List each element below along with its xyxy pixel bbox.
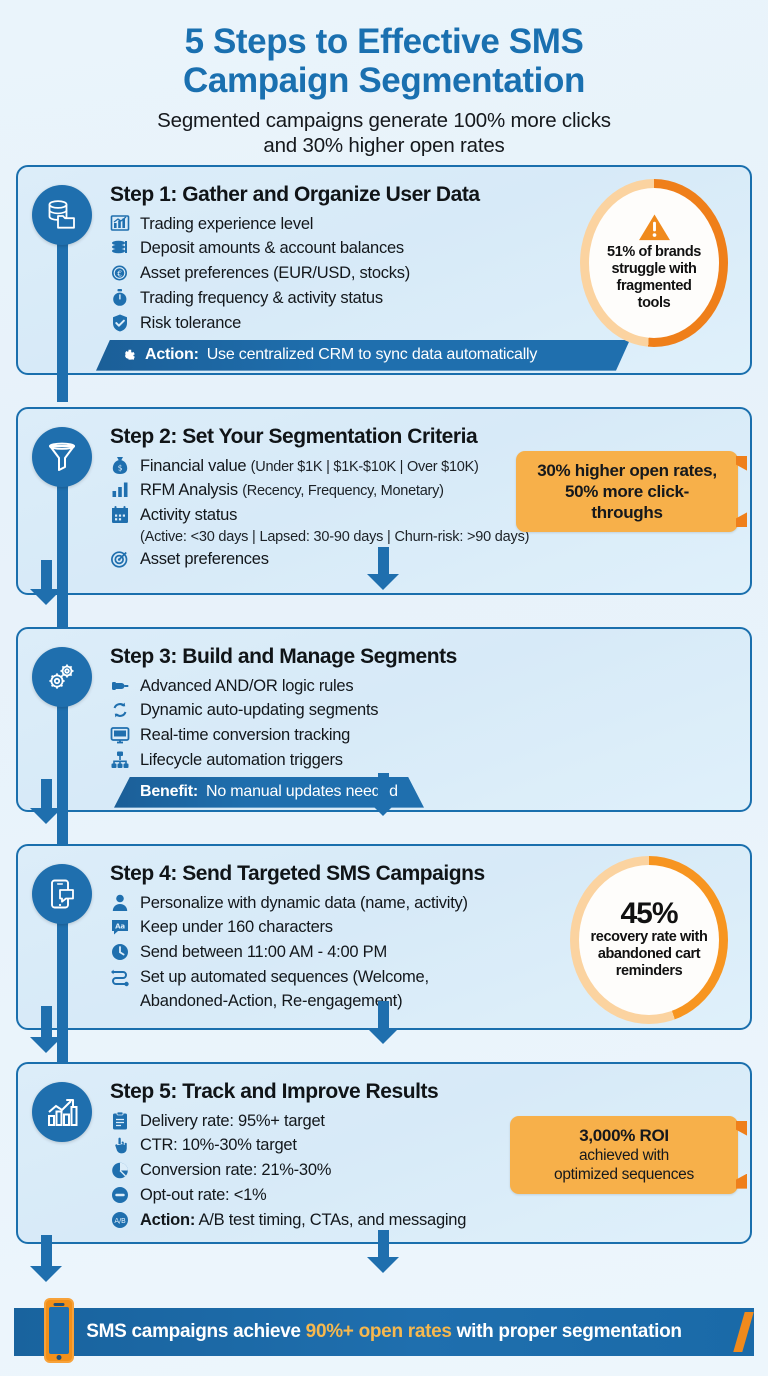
click-hand-icon <box>110 1135 131 1157</box>
step-2-icon-badge <box>32 427 92 487</box>
callout-line-1: 30% higher open rates, <box>530 460 724 481</box>
pie-chart-icon <box>110 1160 131 1182</box>
bullet-text: Real-time conversion tracking <box>140 723 740 748</box>
step-1-icon-badge <box>32 185 92 245</box>
banner-post: with proper segmentation <box>452 1321 682 1342</box>
step-5-icon-badge <box>32 1082 92 1142</box>
coins-stack-icon <box>110 238 131 260</box>
bullet-text: Dynamic auto-updating segments <box>140 698 740 723</box>
connector-arrow-mid-1 <box>378 547 389 575</box>
ab-test-icon: A/B <box>110 1210 131 1232</box>
monitor-icon <box>110 725 131 747</box>
svg-text:$: $ <box>118 463 123 472</box>
banner-highlight: 90%+ open rates <box>306 1321 452 1342</box>
callout-line-3: optimized sequences <box>524 1165 724 1184</box>
step-4-stat-donut: 45% recovery rate with abandoned cart re… <box>570 856 728 1024</box>
step-1-stat-donut: 51% of brands struggle with fragmented t… <box>580 179 728 347</box>
donut-line-1: recovery rate with <box>591 929 708 946</box>
title-line-1: 5 Steps to Effective SMS <box>30 22 738 61</box>
bullet-text: Advanced AND/OR logic rules <box>140 674 740 699</box>
list-item: Advanced AND/OR logic rules <box>110 674 740 699</box>
donut-percent: 45% <box>620 899 677 929</box>
step-1-badge-column <box>18 177 110 336</box>
mobile-message-icon <box>46 878 78 910</box>
donut-line-3: reminders <box>616 963 683 980</box>
step-2-callout: 30% higher open rates, 50% more click-th… <box>516 451 738 533</box>
sequence-flow-icon <box>110 967 131 989</box>
step-5-badge-column <box>18 1074 110 1233</box>
calendar-icon <box>110 505 131 527</box>
gear-icon <box>120 347 137 364</box>
bottom-banner: SMS campaigns achieve 90%+ open rates wi… <box>14 1308 754 1356</box>
donut-line-2: struggle with <box>611 261 696 278</box>
step-1-stem <box>57 232 68 402</box>
title-line-2: Campaign Segmentation <box>30 61 738 100</box>
subtitle-line-1: Segmented campaigns generate 100% more c… <box>30 109 738 134</box>
ribbon-label: Benefit: <box>140 783 198 801</box>
svg-text:A/B: A/B <box>114 1217 126 1225</box>
step-3-badge-column <box>18 639 110 773</box>
banner-pre: SMS campaigns achieve <box>86 1321 305 1342</box>
database-folder-icon <box>45 198 79 232</box>
phone-home-button <box>57 1355 62 1360</box>
list-item: Real-time conversion tracking <box>110 723 740 748</box>
step-5-title: Step 5: Track and Improve Results <box>110 1080 740 1104</box>
bar-chart-icon <box>110 480 131 502</box>
donut-line-2: abandoned cart <box>598 946 700 963</box>
page-subtitle: Segmented campaigns generate 100% more c… <box>30 109 738 158</box>
ribbon-text: No manual updates needed <box>206 783 398 801</box>
clipboard-list-icon <box>110 1111 131 1133</box>
list-item: Asset preferences <box>110 547 740 572</box>
bullet-main: RFM Analysis <box>140 481 242 499</box>
svg-text:Aa: Aa <box>115 923 125 931</box>
step-card-5: Step 5: Track and Improve Results Delive… <box>16 1062 752 1244</box>
step-2-stem <box>57 474 68 629</box>
callout-line-2: achieved with <box>524 1146 724 1165</box>
euro-coin-icon: € <box>110 263 131 285</box>
step-5-callout: 3,000% ROI achieved with optimized seque… <box>510 1116 738 1194</box>
warning-triangle-icon <box>638 213 671 242</box>
step-4-stem <box>57 911 68 1063</box>
donut-line-4: tools <box>638 295 671 312</box>
banner-text: SMS campaigns achieve 90%+ open rates wi… <box>86 1321 681 1343</box>
bullet-main: Financial value <box>140 457 251 475</box>
page-header: 5 Steps to Effective SMS Campaign Segmen… <box>0 0 768 165</box>
money-bag-icon: $ <box>110 456 131 478</box>
callout-line-1: 3,000% ROI <box>524 1125 724 1146</box>
donut-line-1: 51% of brands <box>607 244 701 261</box>
connector-arrow-left-2 <box>41 779 52 809</box>
step-2-bullets-cont: Asset preferences <box>110 547 740 572</box>
connector-arrow-mid-4 <box>378 1230 389 1258</box>
svg-text:€: € <box>117 270 122 279</box>
step-2-badge-column <box>18 419 110 573</box>
chart-growth-icon <box>110 214 131 236</box>
bullet-main: A/B test timing, CTAs, and messaging <box>199 1211 467 1229</box>
stopwatch-icon <box>110 288 131 310</box>
sitemap-icon <box>110 750 131 772</box>
step-card-1: Step 1: Gather and Organize User Data Tr… <box>16 165 752 375</box>
page-title: 5 Steps to Effective SMS Campaign Segmen… <box>30 22 738 100</box>
connector-arrow-left-4 <box>41 1235 52 1267</box>
minus-circle-icon <box>110 1185 131 1207</box>
gears-icon <box>45 661 79 693</box>
step-3-title: Step 3: Build and Manage Segments <box>110 645 740 669</box>
shield-check-icon <box>110 313 131 335</box>
banner-slash-accent <box>733 1312 753 1352</box>
connector-arrow-mid-2 <box>378 773 389 801</box>
person-icon <box>110 893 131 915</box>
subtitle-line-2: and 30% higher open rates <box>30 134 738 159</box>
funnel-icon <box>46 441 78 473</box>
plug-icon <box>110 676 131 698</box>
step-3-icon-badge <box>32 647 92 707</box>
text-bubble-icon: Aa <box>110 917 131 939</box>
bullet-text: Lifecycle automation triggers <box>140 748 740 773</box>
step-3-body: Step 3: Build and Manage Segments Advanc… <box>110 639 740 773</box>
connector-arrow-mid-3 <box>378 1001 389 1029</box>
phone-screen <box>49 1307 69 1354</box>
step-2-title: Step 2: Set Your Segmentation Criteria <box>110 425 740 449</box>
clock-icon <box>110 942 131 964</box>
bullet-text: Action: A/B test timing, CTAs, and messa… <box>140 1208 740 1233</box>
sync-arrows-icon <box>110 700 131 722</box>
ribbon-label: Action: <box>145 346 199 364</box>
bullet-label: Action: <box>140 1211 195 1229</box>
bullet-dim: (Under $1K | $1K-$10K | Over $10K) <box>251 459 479 475</box>
target-icon <box>110 549 131 571</box>
steps-container: Step 1: Gather and Organize User Data Tr… <box>0 165 768 1244</box>
step-1-ribbon-wrap: Action: Use centralized CRM to sync data… <box>96 340 630 371</box>
donut-line-3: fragmented <box>617 278 692 295</box>
connector-arrow-left-3 <box>41 1006 52 1038</box>
step-3-bullets: Advanced AND/OR logic rules Dynamic auto… <box>110 674 740 773</box>
bullet-dim: (Recency, Frequency, Monetary) <box>242 483 443 499</box>
step-4-badge-column <box>18 856 110 1012</box>
list-item: Lifecycle automation triggers <box>110 748 740 773</box>
list-item: Dynamic auto-updating segments <box>110 698 740 723</box>
step-4-icon-badge <box>32 864 92 924</box>
ribbon-text: Use centralized CRM to sync data automat… <box>207 346 538 364</box>
step-1-action-ribbon: Action: Use centralized CRM to sync data… <box>96 340 630 371</box>
donut-core: 51% of brands struggle with fragmented t… <box>589 188 719 338</box>
list-item: A/B Action: A/B test timing, CTAs, and m… <box>110 1208 740 1233</box>
callout-line-2: 50% more click-throughs <box>530 481 724 524</box>
bullet-text: Asset preferences <box>140 547 740 572</box>
step-3-stem <box>57 694 68 844</box>
phone-icon <box>44 1298 74 1363</box>
growth-bars-icon <box>45 1096 79 1128</box>
connector-arrow-left-1 <box>41 560 52 590</box>
donut-core: 45% recovery rate with abandoned cart re… <box>579 865 719 1015</box>
phone-speaker <box>54 1303 65 1306</box>
